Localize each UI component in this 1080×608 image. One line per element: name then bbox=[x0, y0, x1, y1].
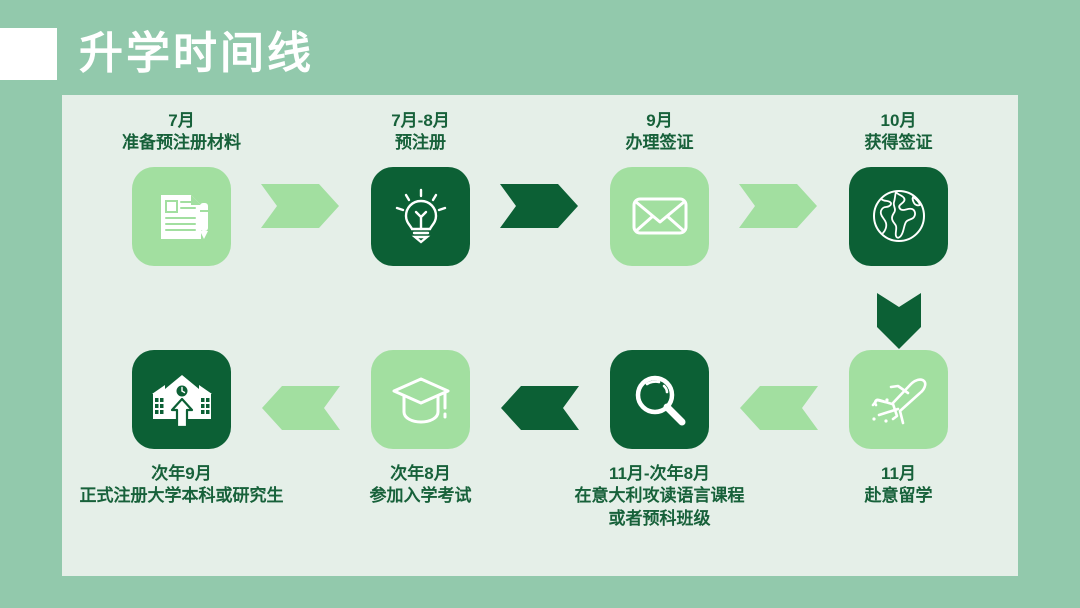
step-3-date: 9月 bbox=[626, 110, 694, 132]
arrow-4-5 bbox=[877, 293, 921, 349]
arrow-5-6 bbox=[740, 386, 818, 430]
step-5-desc: 赴意留学 bbox=[865, 485, 933, 507]
step-7-date: 次年8月 bbox=[370, 463, 472, 485]
step-2-desc: 预注册 bbox=[391, 132, 450, 154]
step-3-icon-wrap bbox=[610, 167, 709, 266]
graduation-cap-icon bbox=[390, 372, 452, 428]
page-title: 升学时间线 bbox=[79, 32, 314, 76]
timeline-step-6[interactable]: 11月-次年8月 在意大利攻读语言课程 或者预科班级 bbox=[540, 350, 779, 550]
school-building-icon bbox=[151, 371, 213, 429]
step-6-labels: 11月-次年8月 在意大利攻读语言课程 或者预科班级 bbox=[575, 463, 745, 530]
slide-header: 升学时间线 bbox=[0, 25, 314, 83]
timeline-step-1[interactable]: 7月 准备预注册材料 bbox=[62, 110, 301, 300]
step-3-tile[interactable] bbox=[610, 167, 709, 266]
step-1-tile[interactable] bbox=[132, 167, 231, 266]
title-accent-block bbox=[0, 28, 57, 80]
step-6-tile[interactable] bbox=[610, 350, 709, 449]
lightbulb-icon bbox=[392, 187, 450, 245]
step-4-icon-wrap bbox=[849, 167, 948, 266]
step-5-date: 11月 bbox=[865, 463, 933, 485]
step-5-tile[interactable] bbox=[849, 350, 948, 449]
timeline-panel: 7月 准备预注册材料 bbox=[62, 95, 1018, 576]
step-6-date: 11月-次年8月 bbox=[575, 463, 745, 485]
envelope-icon bbox=[629, 185, 691, 247]
step-8-date: 次年9月 bbox=[80, 463, 284, 485]
step-2-tile[interactable] bbox=[371, 167, 470, 266]
step-4-desc: 获得签证 bbox=[865, 132, 933, 154]
step-5-labels: 11月 赴意留学 bbox=[865, 463, 933, 508]
step-2-date: 7月-8月 bbox=[391, 110, 450, 132]
step-6-desc-line2: 或者预科班级 bbox=[575, 508, 745, 530]
step-4-tile[interactable] bbox=[849, 167, 948, 266]
airplane-icon bbox=[867, 371, 931, 429]
step-1-desc: 准备预注册材料 bbox=[122, 132, 241, 154]
timeline-step-3[interactable]: 9月 办理签证 bbox=[540, 110, 779, 300]
step-4-date: 10月 bbox=[865, 110, 933, 132]
step-1-labels: 7月 准备预注册材料 bbox=[122, 110, 241, 155]
arrow-6-7 bbox=[501, 386, 579, 430]
slide-root: 升学时间线 7月 准备预注册材料 bbox=[0, 0, 1080, 608]
step-8-tile[interactable] bbox=[132, 350, 231, 449]
step-3-desc: 办理签证 bbox=[626, 132, 694, 154]
step-2-labels: 7月-8月 预注册 bbox=[391, 110, 450, 155]
step-7-labels: 次年8月 参加入学考试 bbox=[370, 463, 472, 508]
globe-icon bbox=[869, 186, 929, 246]
timeline-row-bottom: 次年9月 正式注册大学本科或研究生 bbox=[62, 350, 1018, 550]
step-7-tile[interactable] bbox=[371, 350, 470, 449]
timeline-step-5[interactable]: 11月 赴意留学 bbox=[779, 350, 1018, 550]
step-7-desc: 参加入学考试 bbox=[370, 485, 472, 507]
step-6-desc: 在意大利攻读语言课程 bbox=[575, 485, 745, 507]
timeline-step-8[interactable]: 次年9月 正式注册大学本科或研究生 bbox=[62, 350, 301, 550]
document-pencil-icon bbox=[153, 187, 211, 245]
magnifier-icon bbox=[630, 370, 690, 430]
step-1-date: 7月 bbox=[122, 110, 241, 132]
step-2-icon-wrap bbox=[371, 167, 470, 266]
arrow-7-8 bbox=[262, 386, 340, 430]
timeline-step-4[interactable]: 10月 获得签证 bbox=[779, 110, 1018, 300]
step-8-desc: 正式注册大学本科或研究生 bbox=[80, 485, 284, 507]
step-1-icon-wrap bbox=[132, 167, 231, 266]
step-8-labels: 次年9月 正式注册大学本科或研究生 bbox=[80, 463, 284, 508]
timeline-step-2[interactable]: 7月-8月 预注册 bbox=[301, 110, 540, 300]
timeline-step-7[interactable]: 次年8月 参加入学考试 bbox=[301, 350, 540, 550]
timeline-row-top: 7月 准备预注册材料 bbox=[62, 110, 1018, 300]
step-3-labels: 9月 办理签证 bbox=[626, 110, 694, 155]
step-4-labels: 10月 获得签证 bbox=[865, 110, 933, 155]
